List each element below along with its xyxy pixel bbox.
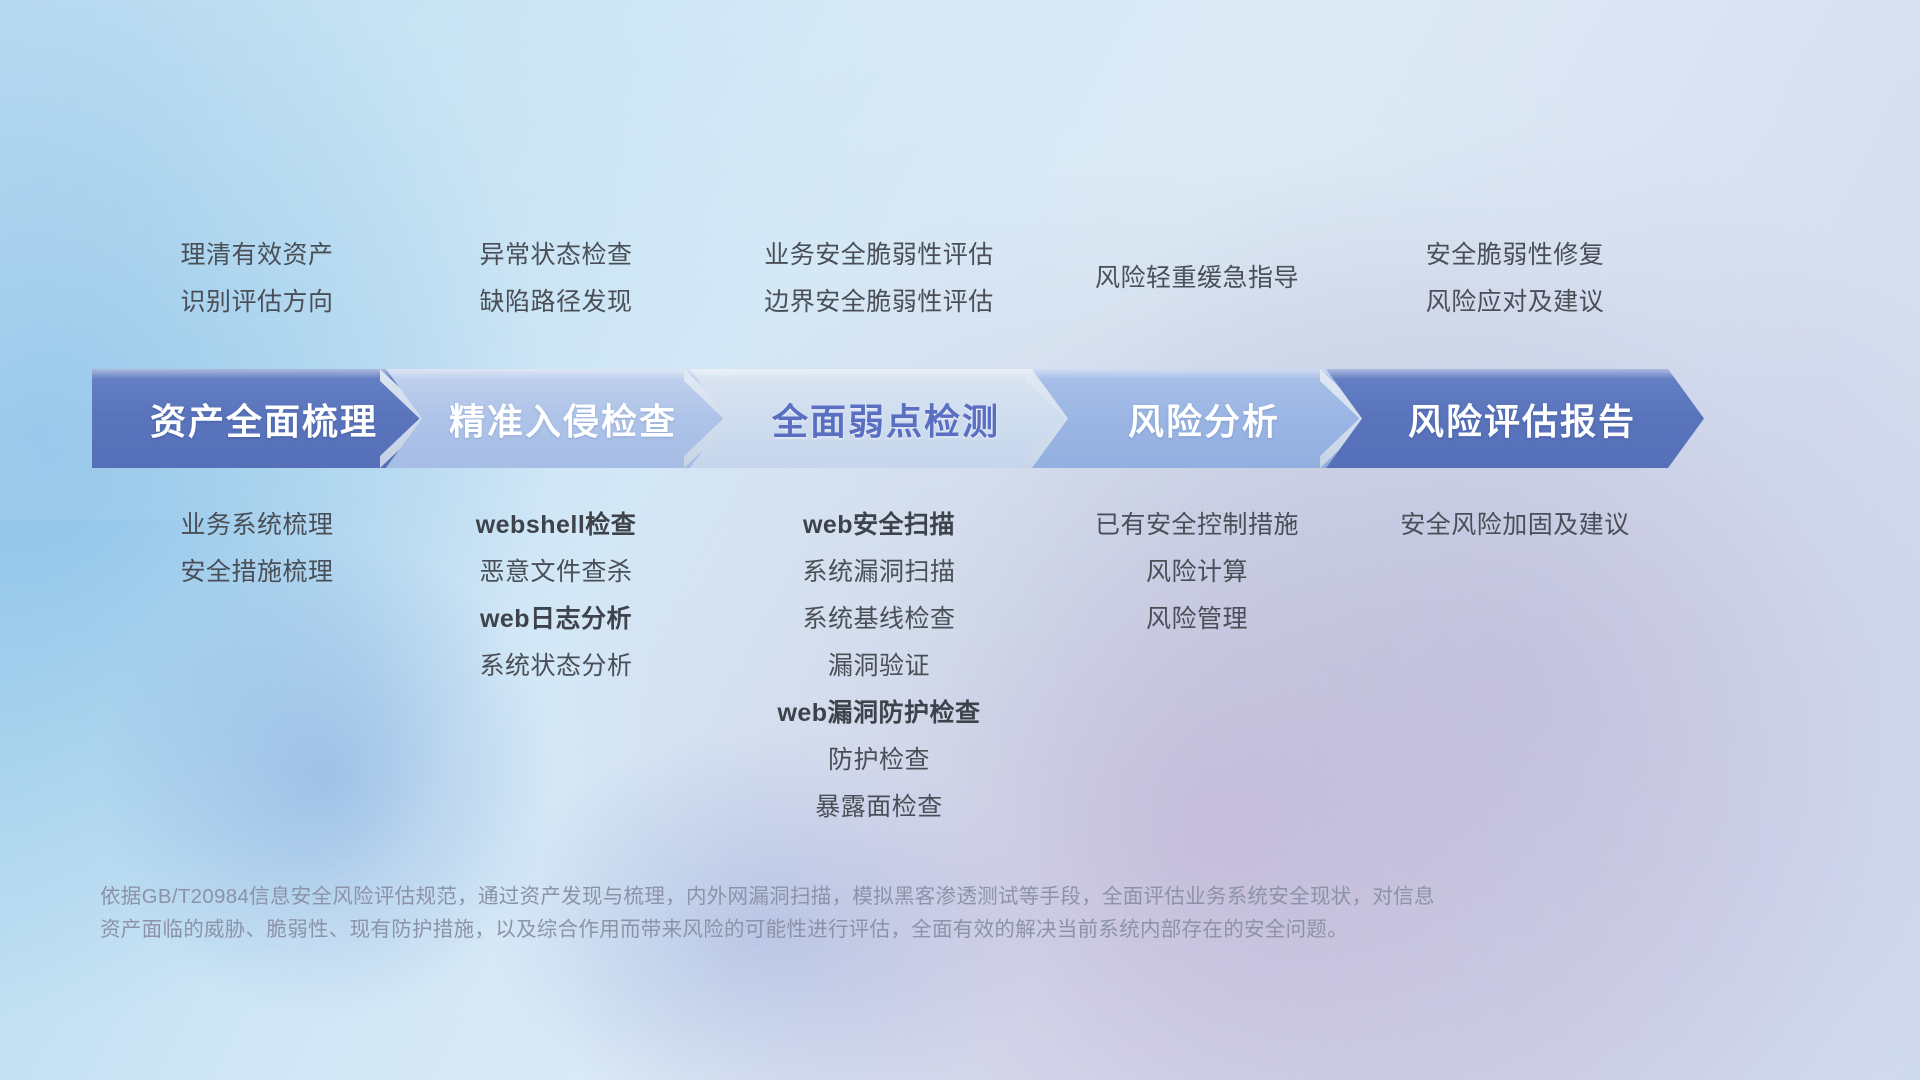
process-arrow-label: 资产全面梳理 bbox=[136, 393, 378, 445]
above-label: 安全脆弱性修复 bbox=[1305, 232, 1725, 279]
slide-canvas: 理清有效资产识别评估方向异常状态检查缺陷路径发现业务安全脆弱性评估边界安全脆弱性… bbox=[0, 0, 1920, 1080]
above-labels-risk-report: 安全脆弱性修复风险应对及建议 bbox=[1305, 232, 1725, 326]
below-labels-risk-report: 安全风险加固及建议 bbox=[1305, 502, 1725, 549]
below-label: 暴露面检查 bbox=[669, 784, 1089, 831]
below-label: 漏洞验证 bbox=[669, 643, 1089, 690]
below-label: web漏洞防护检查 bbox=[669, 690, 1089, 737]
below-label: 风险计算 bbox=[987, 549, 1407, 596]
process-arrow-intrusion-check[interactable]: 精准入侵检查 bbox=[386, 369, 726, 468]
footer-note-line-1: 依据GB/T20984信息安全风险评估规范，通过资产发现与梳理，内外网漏洞扫描，… bbox=[100, 880, 1620, 913]
below-label: 防护检查 bbox=[669, 737, 1089, 784]
below-label: 安全风险加固及建议 bbox=[1305, 502, 1725, 549]
process-arrow-label: 全面弱点检测 bbox=[758, 393, 1000, 445]
process-arrow-weakness-detection[interactable]: 全面弱点检测 bbox=[690, 369, 1068, 468]
process-arrow-label: 风险分析 bbox=[1114, 393, 1280, 445]
below-label: 风险管理 bbox=[987, 596, 1407, 643]
process-arrow-asset-inventory[interactable]: 资产全面梳理 bbox=[92, 369, 422, 468]
footer-note-line-2: 资产面临的威胁、脆弱性、现有防护措施，以及综合作用而带来风险的可能性进行评估，全… bbox=[100, 913, 1620, 946]
process-arrow-label: 精准入侵检查 bbox=[435, 393, 677, 445]
process-arrow-risk-report[interactable]: 风险评估报告 bbox=[1326, 369, 1704, 468]
process-arrow-band: 资产全面梳理精准入侵检查全面弱点检测风险分析风险评估报告 bbox=[92, 369, 1848, 468]
process-arrow-risk-analysis[interactable]: 风险分析 bbox=[1032, 369, 1362, 468]
process-arrow-label: 风险评估报告 bbox=[1394, 393, 1636, 445]
above-label: 风险应对及建议 bbox=[1305, 279, 1725, 326]
footer-note: 依据GB/T20984信息安全风险评估规范，通过资产发现与梳理，内外网漏洞扫描，… bbox=[100, 880, 1620, 946]
